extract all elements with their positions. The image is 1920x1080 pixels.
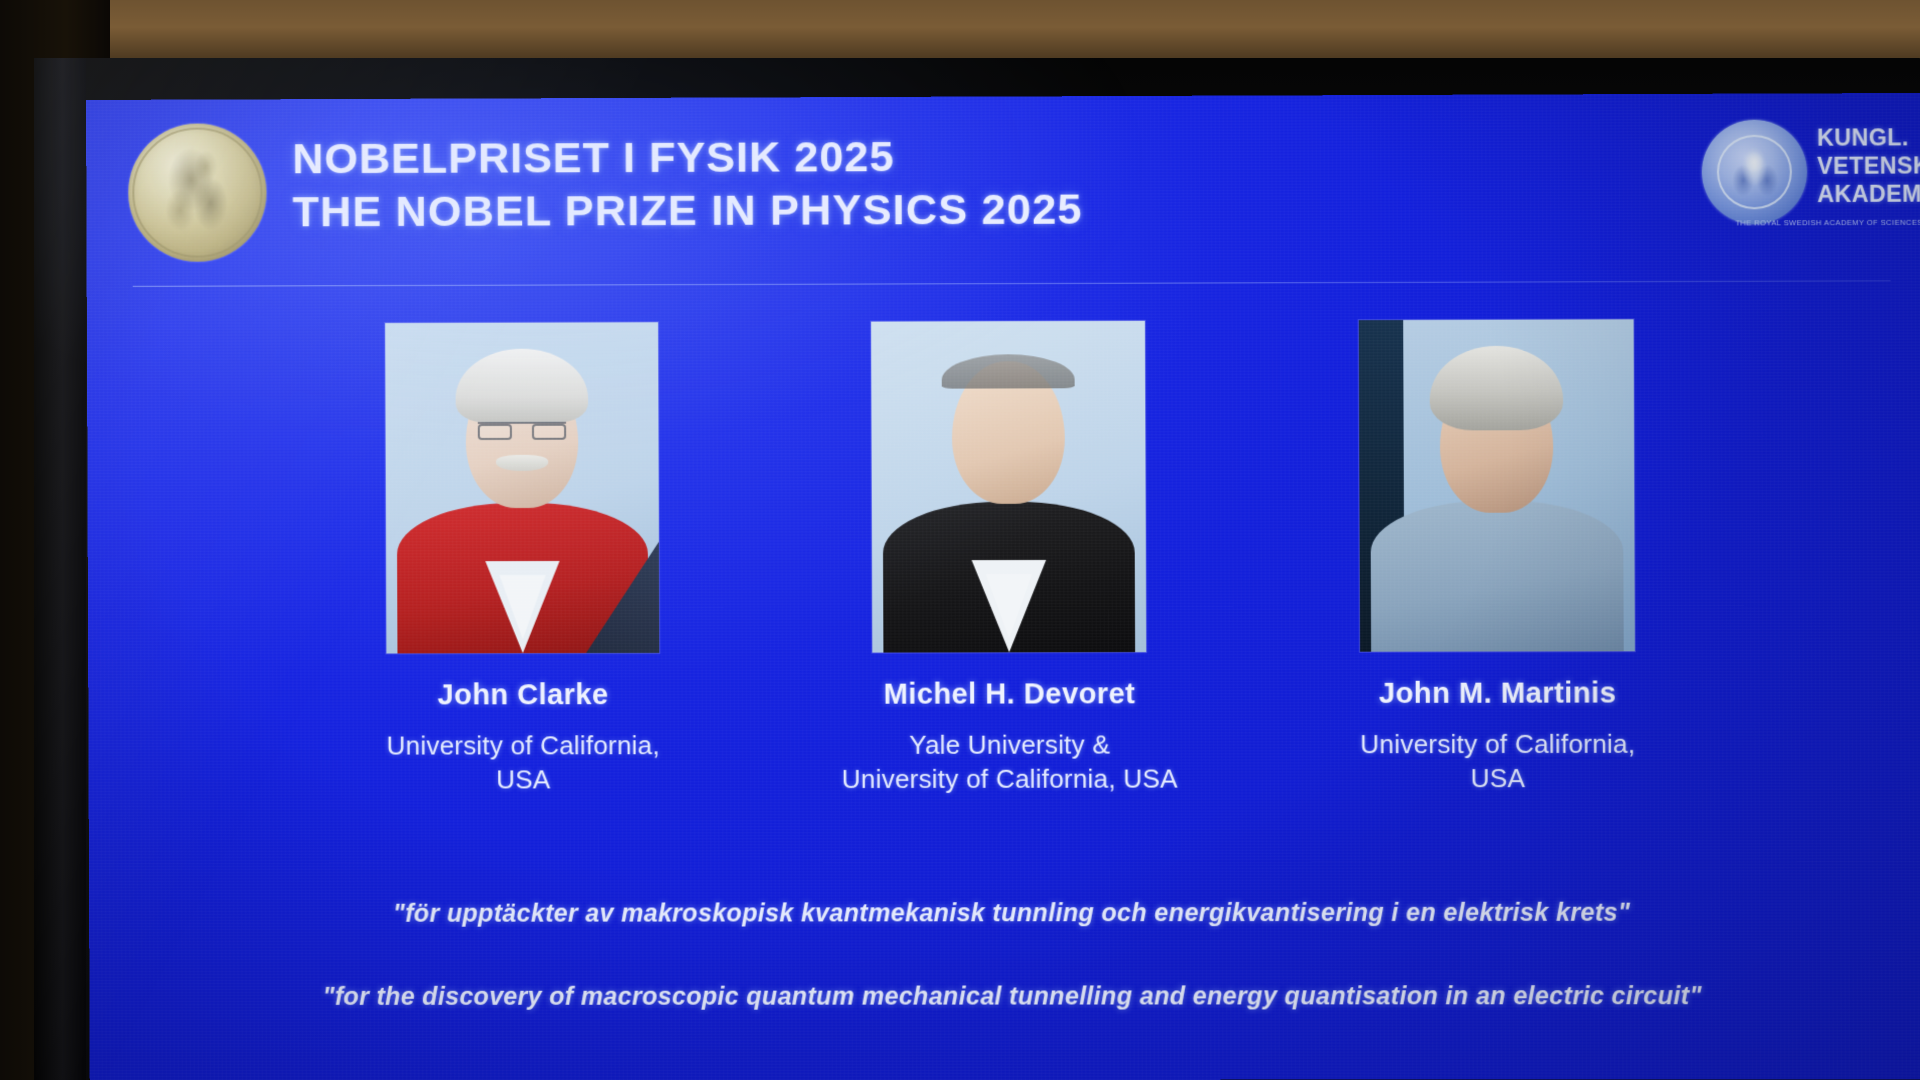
medal-rim (132, 127, 262, 257)
laureate-affiliation-line-2: USA (1321, 761, 1675, 796)
title-block: NOBELPRISET I FYSIK 2025 THE NOBEL PRIZE… (292, 130, 1083, 239)
laureate-name: John M. Martinis (1321, 677, 1675, 711)
laureate-affiliation-line-2: USA (348, 762, 699, 797)
citation-swedish: "för upptäckter av makroskopisk kvantmek… (89, 898, 1920, 929)
citation-english: "for the discovery of macroscopic quantu… (89, 982, 1920, 1012)
laureate-affiliation-line-1: University of California, (348, 728, 699, 763)
academy-name-line-3: AKADEMIEN (1817, 180, 1918, 209)
laureate-card: John M. Martinis University of Californi… (1319, 319, 1674, 795)
header-divider-rule (133, 280, 1891, 287)
academy-name-line-2: VETENSKAPS (1817, 151, 1918, 180)
laureate-name: John Clarke (347, 679, 698, 713)
academy-wordmark: KUNGL. VETENSKAPS AKADEMIEN (1817, 123, 1919, 208)
eyeglasses-icon (478, 422, 566, 438)
photo-scene: NOBELPRISET I FYSIK 2025 THE NOBEL PRIZE… (0, 0, 1920, 1080)
slide-header: NOBELPRISET I FYSIK 2025 THE NOBEL PRIZE… (86, 93, 1920, 312)
portrait-moustache (496, 455, 548, 471)
laureate-affiliation-line-1: University of California, (1321, 727, 1675, 762)
prize-citation: "för upptäckter av makroskopisk kvantmek… (89, 898, 1920, 1012)
seal-crown-detail (1741, 147, 1767, 177)
page-title-english: THE NOBEL PRIZE IN PHYSICS 2025 (292, 182, 1082, 239)
nobel-medal-icon (128, 123, 267, 262)
laureate-card: John Clarke University of California, US… (346, 322, 699, 797)
portrait-john-m-martinis (1359, 319, 1635, 651)
academy-name-line-1: KUNGL. (1817, 123, 1918, 152)
laureate-affiliation-line-2: University of California, USA (834, 761, 1187, 796)
portrait-michel-h-devoret (871, 321, 1146, 653)
display-left-post (34, 58, 86, 1080)
portrait-john-clarke (385, 322, 659, 653)
royal-academy-seal-icon (1702, 120, 1808, 225)
page-title-swedish: NOBELPRISET I FYSIK 2025 (292, 130, 1082, 185)
presentation-slide: NOBELPRISET I FYSIK 2025 THE NOBEL PRIZE… (86, 93, 1920, 1080)
portrait-torso (1371, 500, 1624, 651)
laureate-card: Michel H. Devoret Yale University & Univ… (832, 321, 1186, 796)
laureate-name: Michel H. Devoret (833, 678, 1185, 712)
academy-subtitle: THE ROYAL SWEDISH ACADEMY OF SCIENCES (1735, 218, 1920, 228)
laureates-row: John Clarke University of California, US… (87, 318, 1920, 797)
laureate-affiliation-line-1: Yale University & (833, 727, 1186, 762)
